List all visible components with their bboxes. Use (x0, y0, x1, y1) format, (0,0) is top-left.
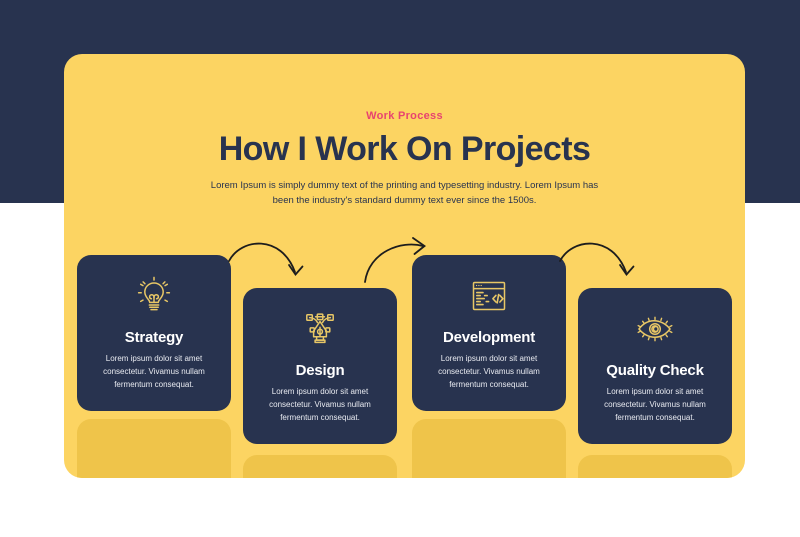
ghost-card-3 (412, 419, 566, 478)
step-title: Development (425, 320, 553, 346)
eye-icon (631, 305, 679, 353)
page-subtitle: Lorem Ipsum is simply dummy text of the … (205, 168, 605, 208)
step-description: Lorem ipsum dolor sit amet consectetur. … (90, 346, 218, 392)
ghost-card-4 (578, 455, 732, 478)
ghost-card-2 (243, 455, 397, 478)
eyebrow-label: Work Process (64, 54, 745, 122)
step-title: Strategy (90, 320, 218, 346)
step-title: Design (256, 353, 384, 379)
lightbulb-icon (130, 272, 178, 320)
page-title: How I Work On Projects (64, 122, 745, 168)
step-card-strategy[interactable]: Strategy Lorem ipsum dolor sit amet cons… (77, 255, 231, 411)
ghost-card-1 (77, 419, 231, 478)
work-process-panel: Work Process How I Work On Projects Lore… (64, 54, 745, 478)
step-card-development[interactable]: Development Lorem ipsum dolor sit amet c… (412, 255, 566, 411)
panel-header: Work Process How I Work On Projects Lore… (64, 54, 745, 209)
code-window-icon (465, 272, 513, 320)
step-description: Lorem ipsum dolor sit amet consectetur. … (591, 379, 719, 425)
pen-tool-icon (296, 305, 344, 353)
step-card-quality-check[interactable]: Quality Check Lorem ipsum dolor sit amet… (578, 288, 732, 444)
step-description: Lorem ipsum dolor sit amet consectetur. … (256, 379, 384, 425)
step-card-design[interactable]: Design Lorem ipsum dolor sit amet consec… (243, 288, 397, 444)
step-title: Quality Check (591, 353, 719, 379)
step-description: Lorem ipsum dolor sit amet consectetur. … (425, 346, 553, 392)
